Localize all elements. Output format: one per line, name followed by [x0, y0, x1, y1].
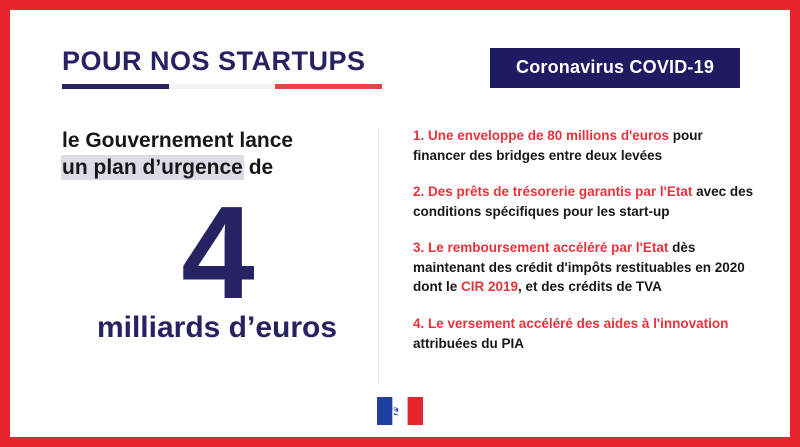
tricolor-rule: [62, 84, 382, 89]
measure-4-strong: 4. Le versement accéléré des aides à l'i…: [413, 316, 728, 331]
amount-figure: 4: [62, 188, 372, 317]
border-right: [790, 0, 800, 447]
measure-3-plain-2: , et des crédits de TVA: [518, 279, 662, 294]
content-area: POUR NOS STARTUPS le Gouvernement lance …: [10, 10, 790, 437]
column-divider: [378, 128, 379, 383]
list-item: 2. Des prêts de trésorerie garantis par …: [413, 182, 758, 221]
tricolor-red-segment: [275, 84, 382, 89]
border-bottom: [0, 437, 800, 447]
page-title: POUR NOS STARTUPS: [62, 48, 372, 75]
right-column: Coronavirus COVID-19 1. Une enveloppe de…: [413, 48, 758, 353]
measure-3-strong-2: CIR 2019: [461, 279, 518, 294]
measure-1-strong: 1. Une enveloppe de 80 millions d'euros: [413, 128, 669, 143]
tricolor-white-segment: [169, 84, 276, 89]
amount-unit: milliards d’euros: [62, 313, 372, 343]
measures-list: 1. Une enveloppe de 80 millions d'euros …: [413, 126, 758, 353]
poster: POUR NOS STARTUPS le Gouvernement lance …: [0, 0, 800, 447]
subheadline: le Gouvernement lance un plan d’urgence …: [62, 127, 372, 182]
border-top: [0, 0, 800, 10]
list-item: 3. Le remboursement accéléré par l'Etat …: [413, 238, 758, 297]
subheadline-line-1: le Gouvernement lance: [62, 127, 372, 154]
left-column: POUR NOS STARTUPS le Gouvernement lance …: [62, 48, 372, 343]
measure-3-strong: 3. Le remboursement accéléré par l'Etat: [413, 240, 668, 255]
list-item: 4. Le versement accéléré des aides à l'i…: [413, 314, 758, 353]
measure-4-plain: attribuées du PIA: [413, 336, 524, 351]
tricolor-blue-segment: [62, 84, 169, 89]
list-item: 1. Une enveloppe de 80 millions d'euros …: [413, 126, 758, 165]
status-badge: Coronavirus COVID-19: [490, 48, 740, 88]
measure-2-strong: 2. Des prêts de trésorerie garantis par …: [413, 184, 692, 199]
republique-francaise-marianne-logo-icon: [377, 397, 423, 425]
subheadline-line-2: un plan d’urgence de: [62, 154, 372, 181]
subheadline-line-2-rest: de: [243, 156, 273, 179]
border-left: [0, 0, 10, 447]
subheadline-highlight: un plan d’urgence: [62, 156, 243, 179]
